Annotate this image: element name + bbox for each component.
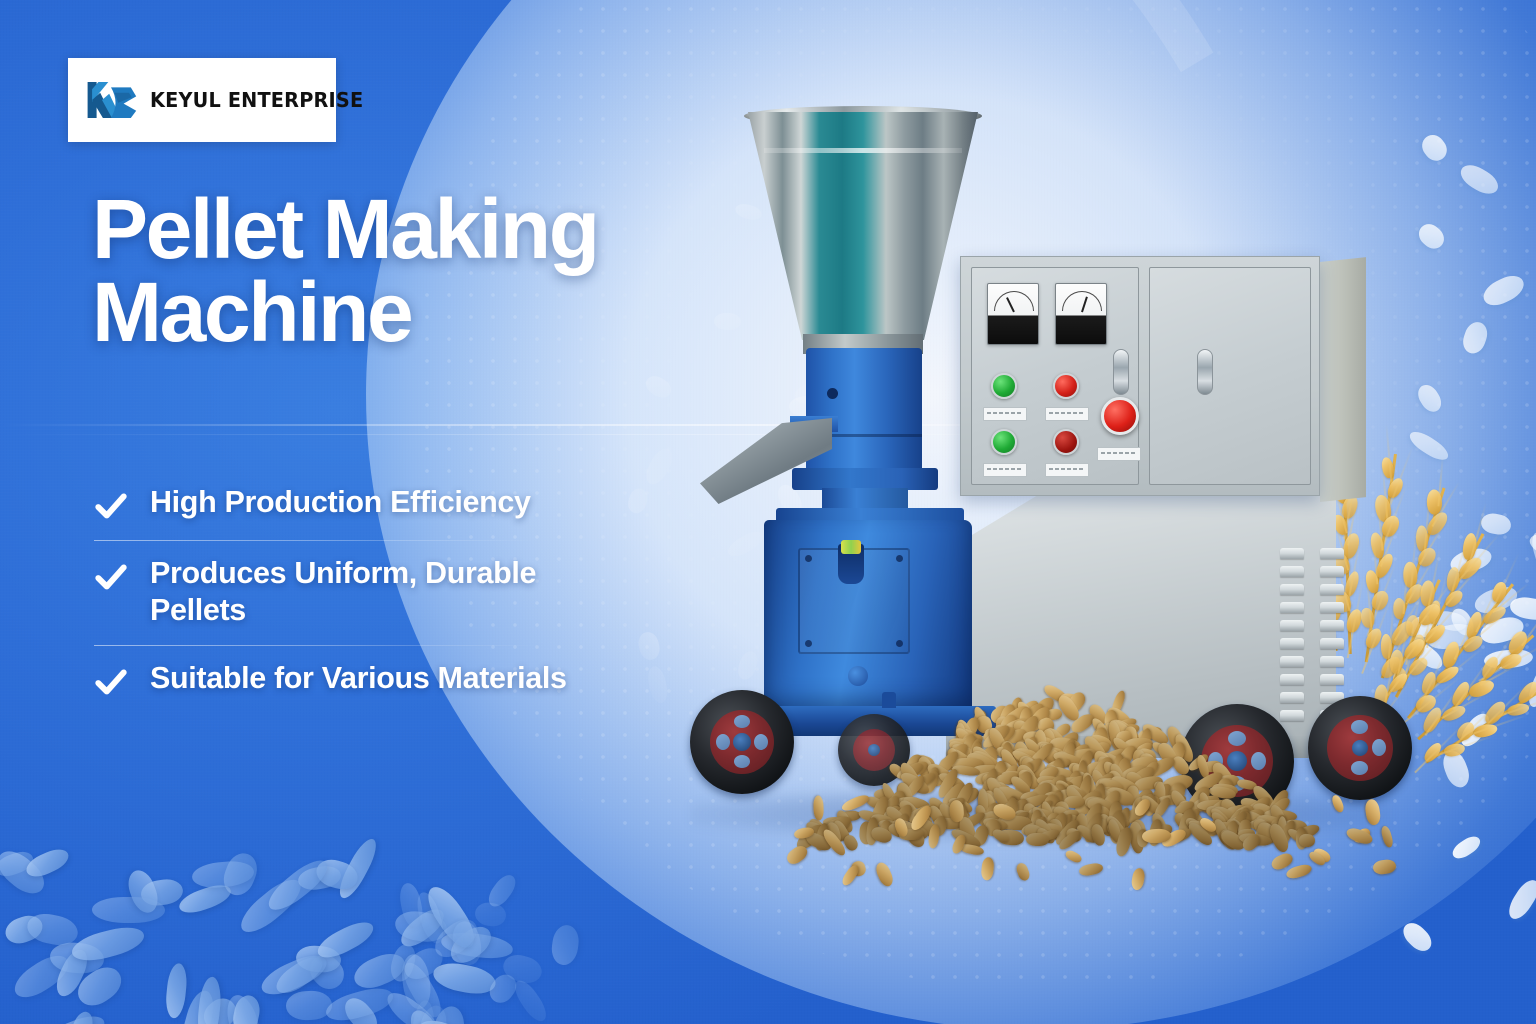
decorative-pellet [394,908,449,944]
pellet-stray [813,796,824,821]
check-icon [94,490,128,524]
decorative-pellet [485,970,522,1008]
decorative-pellet [414,1002,450,1024]
decorative-pellet [313,856,361,894]
wheel-spoke-hole [716,734,730,750]
barrel-bolt [827,388,838,399]
vent-slot [1280,602,1304,613]
decorative-pellet [550,924,581,967]
button-label-tag [1045,407,1089,421]
decorative-pellet [428,1004,468,1024]
brand-logo: KEYUL ENTERPRISE [68,58,336,142]
decorative-pellet [1504,876,1536,923]
vent-slot [1320,674,1344,685]
feature-list: High Production Efficiency Produces Unif… [94,470,574,716]
decorative-pellet [431,959,498,997]
decorative-pellet [48,941,104,975]
decorative-pellet [414,1015,477,1024]
plate-bolt [896,640,903,647]
decorative-pellet [445,920,497,969]
decorative-pellet [429,913,483,963]
wheel-spoke-hole [1351,720,1368,734]
decorative-pellet [0,848,36,881]
promotional-banner: KEYUL ENTERPRISE Pellet Making Machine H… [0,0,1536,1024]
decorative-pellet [2,911,46,947]
pellet [1026,833,1050,847]
decorative-pellet [262,853,334,917]
decorative-pellet [340,993,383,1024]
decorative-pellet [176,881,233,918]
decorative-pellet [92,896,165,922]
plate-bolt [805,555,812,562]
decorative-pellet [387,941,418,983]
headline-line-2: Machine [92,271,732,354]
vent-slot [1280,548,1304,559]
decorative-pellet [396,903,449,952]
vent-slot [1280,566,1304,577]
vent-slot [1280,620,1304,631]
decorative-pellet [67,1009,97,1024]
wheel-spoke-hole [754,734,768,750]
decorative-pellet [405,1006,448,1024]
plate-bolt [805,640,812,647]
control-cabinet [960,256,1320,496]
ke-monogram-icon [84,73,138,127]
decorative-pellet [399,953,433,1011]
feature-item-1: Produces Uniform, Durable Pellets [94,541,574,645]
decorative-pellet [271,951,328,999]
decorative-pellet [198,993,242,1024]
decorative-pellet [382,986,444,1024]
decorative-pellet [51,945,92,1000]
cabinet-door-right[interactable] [1149,267,1311,485]
decorative-pellet [440,930,514,962]
decorative-pellet [25,910,81,949]
vent-slot [1320,548,1344,559]
decorative-pellet [257,948,332,1001]
wheel-spoke-hole [734,755,750,768]
start-button-green[interactable] [991,373,1017,399]
pellet [1298,833,1315,847]
galvanized-steel-hopper [748,112,978,340]
decorative-pellet [510,976,551,1024]
pellet-making-machine [660,96,1450,856]
decorative-pellet [399,943,447,985]
wheel-hub-center [733,733,751,751]
decorative-pellet [323,984,396,1024]
decorative-pellet [177,987,218,1024]
vent-slot [1280,656,1304,667]
gauge-ammeter [987,283,1039,345]
gauge-voltmeter [1055,283,1107,345]
headline-line-1: Pellet Making [92,182,598,276]
decorative-pellet [69,922,147,966]
decorative-pellet [296,864,342,893]
vent-slot [1280,638,1304,649]
feature-label-0: High Production Efficiency [150,484,531,521]
decorative-pellet [397,881,426,929]
button-label-tag [1045,463,1089,477]
decorative-pellet [304,949,351,996]
stop-button-red[interactable] [1053,373,1079,399]
wheel-front-left [690,690,794,794]
decorative-pellet [42,1011,108,1024]
machine-collar [792,468,938,490]
decorative-pellet [334,835,382,902]
aux-button-red[interactable] [1053,429,1079,455]
aux-button-green[interactable] [991,429,1017,455]
pellet-pile [800,676,1320,856]
decorative-pellet [164,963,189,1020]
decorative-pellet [222,991,266,1024]
emergency-stop-button[interactable] [1101,397,1139,435]
feature-label-2: Suitable for Various Materials [150,660,567,697]
plate-bolt [896,555,903,562]
decorative-pellet [500,951,545,987]
vent-slot [1320,602,1344,613]
decorative-pellet [450,919,484,967]
decorative-pellet [219,848,263,899]
decorative-pellet [421,880,483,954]
wheel-spoke-hole [734,715,750,728]
vent-slot [1320,566,1344,577]
wheel-hub-center [1352,740,1368,756]
wheel-spoke-hole [1351,761,1368,775]
page-title: Pellet Making Machine [92,188,732,354]
decorative-pellet [286,990,333,1020]
decorative-pellet [234,872,307,939]
decorative-pellet [410,1000,436,1024]
decorative-pellet [485,871,520,910]
vent-slot [1320,638,1344,649]
vent-slot [1320,620,1344,631]
feature-label-1: Produces Uniform, Durable Pellets [150,555,574,629]
decorative-pellet [191,859,255,889]
check-icon [94,561,128,595]
vent-slot [1320,656,1344,667]
feature-item-2: Suitable for Various Materials [94,646,574,716]
vent-slot [1320,584,1344,595]
hopper-band [764,148,962,153]
outlet-grain-indicator [841,540,861,554]
decorative-pellet [231,993,264,1024]
button-label-tag [1097,447,1141,461]
decorative-pellet [71,960,127,1012]
decorative-pellet [398,958,447,1021]
pellet-stray [1380,824,1395,848]
wheel-spoke-hole [1372,739,1386,756]
gauge-scale [994,291,1034,311]
vent-slot [1280,584,1304,595]
wheel-hub [1327,715,1393,781]
decorative-pellet [124,866,163,916]
button-label-tag [983,463,1027,477]
button-label-tag [983,407,1027,421]
decorative-pellet [139,877,184,908]
decorative-pellet [413,889,448,945]
check-icon [94,666,128,700]
feature-item-0: High Production Efficiency [94,470,574,540]
decorative-pellet [8,948,74,1004]
decorative-pellet [23,845,72,882]
cabinet-side-panel [1320,257,1366,502]
brand-name: KEYUL ENTERPRISE [150,88,363,112]
decorative-pellet [350,948,409,994]
wheat-awn [1469,502,1486,562]
decorative-pellet [196,975,223,1024]
decorative-pellet [474,900,509,927]
decorative-pellet [314,916,378,963]
decorative-pellet [0,844,51,901]
decorative-pellet [295,944,342,974]
cabinet-handle-left[interactable] [1113,349,1129,395]
wheel-rear-right [1308,696,1412,800]
wheel-hub [710,710,774,774]
cabinet-handle-right[interactable] [1197,349,1213,395]
